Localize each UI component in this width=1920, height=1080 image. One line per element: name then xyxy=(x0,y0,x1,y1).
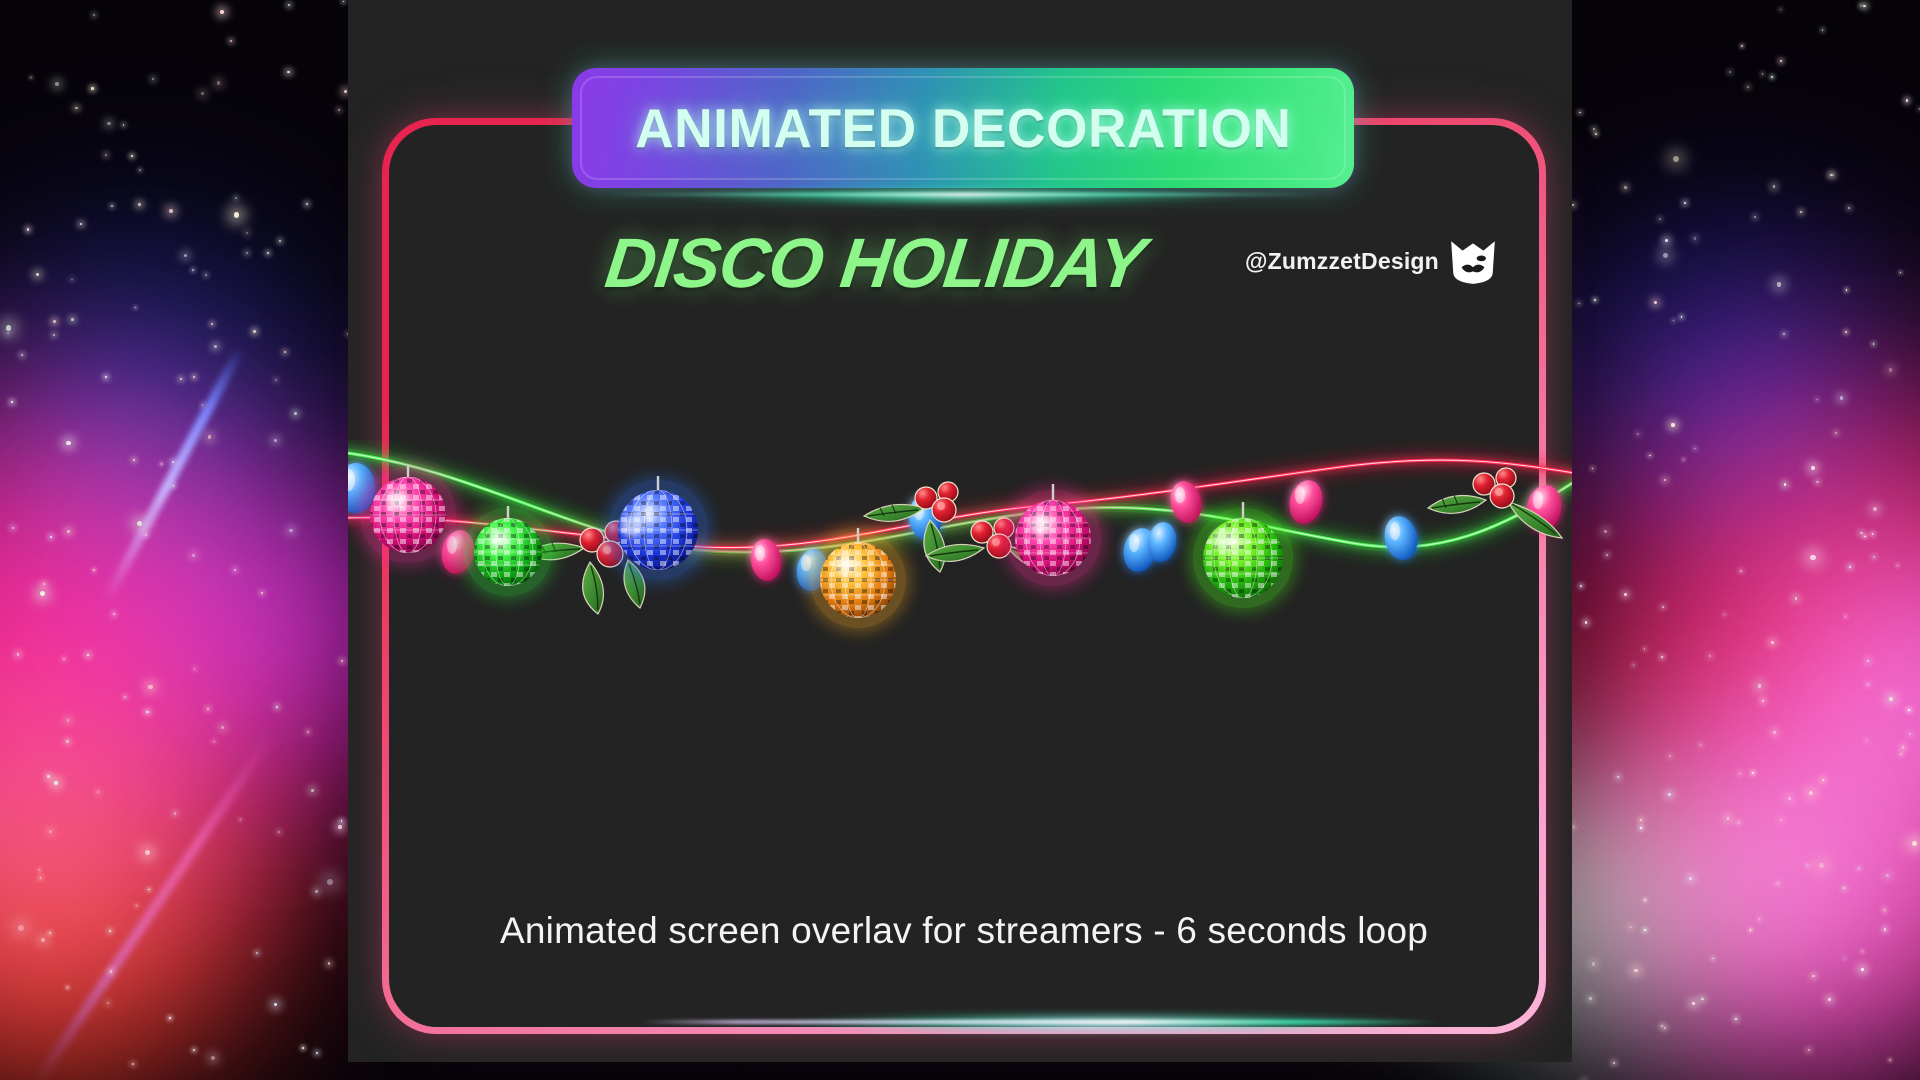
star xyxy=(211,1056,215,1060)
caption-text: Animated screen overlav for streamers - … xyxy=(382,910,1546,952)
star xyxy=(1617,776,1619,778)
star xyxy=(289,529,293,533)
star xyxy=(328,962,330,964)
star xyxy=(1595,133,1597,135)
star xyxy=(41,938,45,942)
star xyxy=(230,40,232,42)
star xyxy=(1752,772,1754,774)
star xyxy=(311,789,314,792)
star xyxy=(1694,448,1696,450)
star xyxy=(1663,253,1668,258)
star xyxy=(93,14,95,16)
badge-label: ANIMATED DECORATION xyxy=(635,101,1291,156)
star xyxy=(30,77,31,78)
star xyxy=(80,223,82,225)
star xyxy=(1889,697,1893,701)
star xyxy=(139,169,141,171)
star xyxy=(49,932,51,934)
star xyxy=(1858,868,1860,870)
star xyxy=(256,952,258,954)
star xyxy=(193,376,195,378)
star xyxy=(1629,926,1631,928)
garland-graphic xyxy=(348,440,1572,700)
star xyxy=(220,10,224,14)
star xyxy=(18,925,24,931)
disco-ball-magenta xyxy=(360,466,456,563)
star xyxy=(145,850,150,855)
star xyxy=(1624,186,1627,189)
star xyxy=(1701,998,1704,1001)
bulb-pink xyxy=(1285,477,1327,527)
star xyxy=(1740,570,1742,572)
star xyxy=(1773,731,1776,734)
star xyxy=(1741,45,1742,46)
star xyxy=(1889,1059,1891,1061)
star xyxy=(1637,433,1639,435)
star xyxy=(1863,5,1866,8)
star xyxy=(1580,585,1582,587)
star xyxy=(93,569,95,571)
star xyxy=(71,318,74,321)
star xyxy=(53,320,56,323)
star xyxy=(180,378,182,380)
star xyxy=(1835,432,1837,434)
star xyxy=(279,240,281,242)
star xyxy=(107,1002,109,1004)
star xyxy=(1644,648,1646,650)
star xyxy=(214,345,217,348)
star xyxy=(1671,423,1674,426)
star xyxy=(1780,60,1782,62)
star xyxy=(66,441,70,445)
star xyxy=(39,869,40,870)
star xyxy=(1644,929,1646,931)
star xyxy=(1906,99,1908,101)
star xyxy=(1665,239,1668,242)
star xyxy=(1762,700,1764,702)
star xyxy=(1669,755,1671,757)
star xyxy=(1594,299,1596,301)
star xyxy=(1884,928,1886,930)
star xyxy=(294,412,297,415)
bulb-blue xyxy=(1381,513,1421,563)
star xyxy=(1664,1027,1666,1029)
star xyxy=(1689,877,1692,880)
star xyxy=(1589,997,1592,1000)
star xyxy=(27,228,29,230)
star xyxy=(146,711,148,713)
star xyxy=(1788,797,1791,800)
star xyxy=(1784,483,1787,486)
star xyxy=(87,654,89,656)
star xyxy=(1845,331,1847,333)
star xyxy=(169,209,173,213)
star xyxy=(111,205,113,207)
star xyxy=(235,197,237,199)
disco-ball-blue xyxy=(608,476,708,580)
star xyxy=(1613,1062,1615,1064)
star xyxy=(54,781,58,785)
star xyxy=(246,252,248,254)
star xyxy=(1783,333,1785,335)
star xyxy=(1900,753,1902,755)
star xyxy=(1777,282,1782,287)
page-title: DISCO HOLIDAY xyxy=(561,228,1190,298)
star xyxy=(1771,641,1774,644)
star xyxy=(338,825,342,829)
star xyxy=(1644,899,1646,901)
star xyxy=(66,740,68,742)
star xyxy=(1811,466,1815,470)
watermark-handle: @ZumzzetDesign xyxy=(1245,248,1439,275)
star xyxy=(278,831,280,833)
disco-holiday-garland xyxy=(348,440,1572,700)
star xyxy=(1860,532,1862,534)
animated-decoration-badge: ANIMATED DECORATION xyxy=(572,68,1354,188)
star xyxy=(40,591,45,596)
star xyxy=(192,554,195,557)
star xyxy=(316,1052,318,1054)
star xyxy=(1754,216,1756,218)
star xyxy=(1864,536,1865,537)
star xyxy=(1800,211,1802,213)
star xyxy=(145,534,147,536)
star xyxy=(341,660,343,662)
star xyxy=(1812,975,1814,977)
star xyxy=(124,696,126,698)
star xyxy=(192,269,194,271)
star xyxy=(12,527,14,529)
star xyxy=(1873,343,1875,345)
star xyxy=(1729,71,1731,73)
star xyxy=(169,1017,171,1019)
star xyxy=(113,613,115,615)
star xyxy=(1843,887,1845,889)
star xyxy=(55,82,59,86)
star xyxy=(107,122,110,125)
star xyxy=(240,819,241,820)
star xyxy=(306,203,308,205)
star xyxy=(253,330,255,332)
star xyxy=(1592,962,1595,965)
star xyxy=(315,890,318,893)
star xyxy=(67,530,70,533)
star xyxy=(1816,481,1818,483)
star xyxy=(1840,396,1843,399)
star xyxy=(11,401,13,403)
star xyxy=(1661,656,1663,658)
star xyxy=(1727,817,1730,820)
star xyxy=(1694,237,1696,239)
star xyxy=(1889,368,1892,371)
star xyxy=(1902,746,1904,748)
star xyxy=(47,775,49,777)
star xyxy=(193,1049,195,1051)
star xyxy=(1873,556,1875,558)
star xyxy=(138,203,141,206)
star xyxy=(75,107,78,110)
star xyxy=(1771,76,1773,78)
watermark: @ZumzzetDesign xyxy=(1245,235,1499,287)
star xyxy=(67,719,70,722)
star xyxy=(91,87,93,89)
star xyxy=(211,323,213,325)
cat-mask-mustache-logo xyxy=(1447,235,1499,287)
star xyxy=(302,1047,304,1049)
star xyxy=(221,726,224,729)
star xyxy=(110,970,112,972)
star xyxy=(49,830,52,833)
star xyxy=(1809,791,1813,795)
